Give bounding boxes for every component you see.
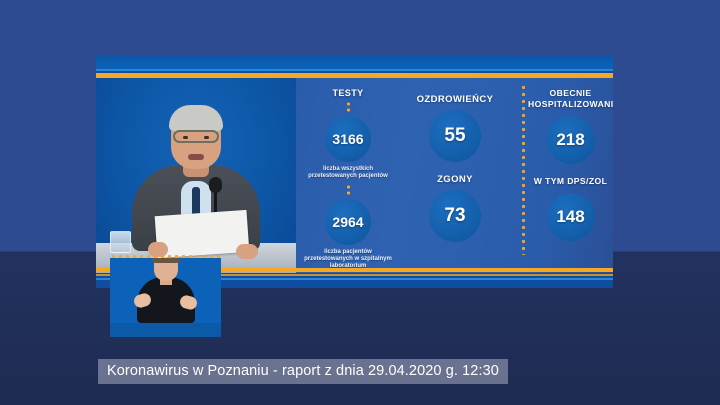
tests-total-circle: 3166 (325, 116, 371, 162)
vertical-dotted-divider-icon (522, 84, 525, 255)
speaker-mouth (188, 154, 204, 160)
hospitalized-circle: 218 (547, 116, 595, 164)
speaker-hair (169, 105, 223, 131)
recovered-header: OZDROWIEŃCY (396, 94, 514, 105)
recovered-value: 55 (444, 125, 465, 147)
speaker-video (96, 78, 296, 273)
dps-zol-header: W TYM DPS/ZOL (528, 176, 613, 186)
dps-zol-circle: 148 (547, 193, 595, 241)
column-tests: TESTY 3166 liczba wszystkich przetestowa… (300, 78, 396, 273)
sign-language-interpreter-inset (110, 258, 221, 337)
signer-floor (110, 323, 221, 337)
screenshot-stage: TESTY 3166 liczba wszystkich przetestowa… (0, 0, 720, 405)
tests-lab-value: 2964 (332, 214, 363, 230)
deaths-header: ZGONY (396, 174, 514, 185)
hospitalized-value: 218 (556, 130, 584, 150)
dotted-connector-icon (347, 101, 350, 114)
top-blue-bar (96, 56, 613, 69)
microphone-icon (209, 177, 222, 193)
broadcast-frame: TESTY 3166 liczba wszystkich przetestowa… (96, 56, 613, 288)
dps-zol-value: 148 (556, 207, 584, 227)
top-light-blue-line (96, 69, 613, 71)
deaths-value: 73 (444, 205, 465, 227)
speaker-right-hand (236, 244, 258, 259)
caption-bar: Koronawirus w Poznaniu - raport z dnia 2… (98, 359, 508, 384)
recovered-circle: 55 (429, 110, 481, 162)
tests-lab-circle: 2964 (325, 199, 371, 245)
tests-header: TESTY (300, 88, 396, 98)
water-glass (110, 231, 131, 253)
deaths-circle: 73 (429, 190, 481, 242)
dotted-connector-icon-2 (347, 184, 350, 197)
hospitalized-header: OBECNIE HOSPITALIZOWANI (528, 88, 613, 109)
column-recovered-deaths: OZDROWIEŃCY 55 ZGONY 73 (396, 78, 514, 273)
eyeglasses (173, 130, 219, 143)
signer-hair (152, 258, 179, 263)
statistics-infographic: TESTY 3166 liczba wszystkich przetestowa… (296, 78, 613, 273)
tests-total-value: 3166 (332, 131, 363, 147)
caption-text: Koronawirus w Poznaniu - raport z dnia 2… (107, 363, 499, 379)
column-hospitalized: OBECNIE HOSPITALIZOWANI 218 W TYM DPS/ZO… (528, 78, 613, 273)
tests-total-caption: liczba wszystkich przetestowanych pacjen… (300, 166, 396, 180)
